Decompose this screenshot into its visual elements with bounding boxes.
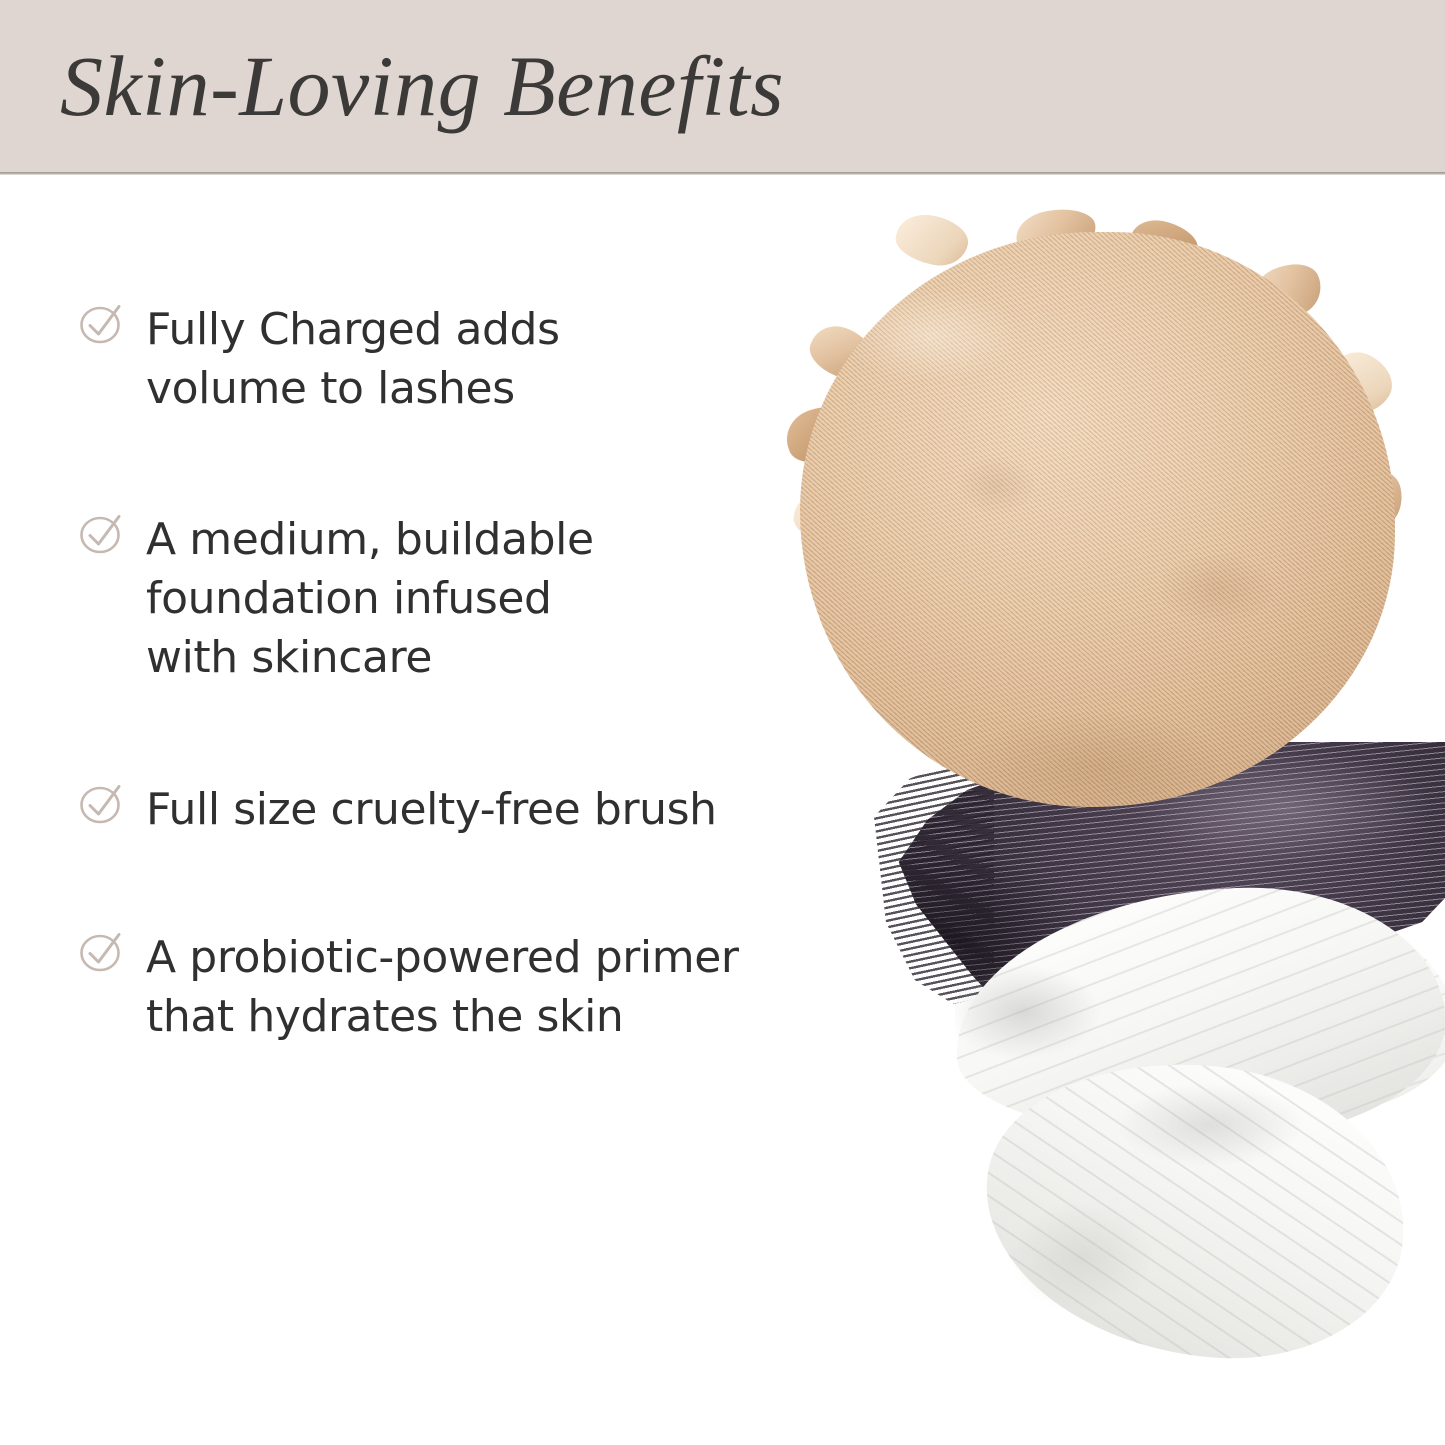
header-divider-rule [0, 172, 1445, 175]
check-circle-icon [78, 510, 126, 558]
benefit-text: A medium, buildable foundation infused w… [146, 510, 908, 687]
benefit-item-foundation: A medium, buildable foundation infused w… [78, 510, 908, 732]
primer-cream-swirl-swatch [955, 890, 1445, 1360]
benefit-text: Fully Charged adds volume to lashes [146, 300, 908, 418]
pressed-powder-foundation-swatch [800, 232, 1395, 807]
powder-disc-surface [800, 232, 1395, 807]
benefit-item-primer: A probiotic-powered primer that hydrates… [78, 928, 908, 1048]
benefit-item-brush: Full size cruelty-free brush [78, 780, 908, 840]
benefit-text: A probiotic-powered primer that hydrates… [146, 928, 908, 1046]
benefits-list: Fully Charged adds volume to lashes A me… [78, 300, 908, 1048]
benefit-text: Full size cruelty-free brush [146, 780, 908, 839]
check-circle-icon [78, 928, 126, 976]
check-circle-icon [78, 780, 126, 828]
page-title: Skin-Loving Benefits [60, 34, 784, 138]
check-circle-icon [78, 300, 126, 348]
product-benefits-infographic: Skin-Loving Benefits Fully Charged adds … [0, 0, 1445, 1445]
benefit-item-fully-charged: Fully Charged adds volume to lashes [78, 300, 908, 460]
